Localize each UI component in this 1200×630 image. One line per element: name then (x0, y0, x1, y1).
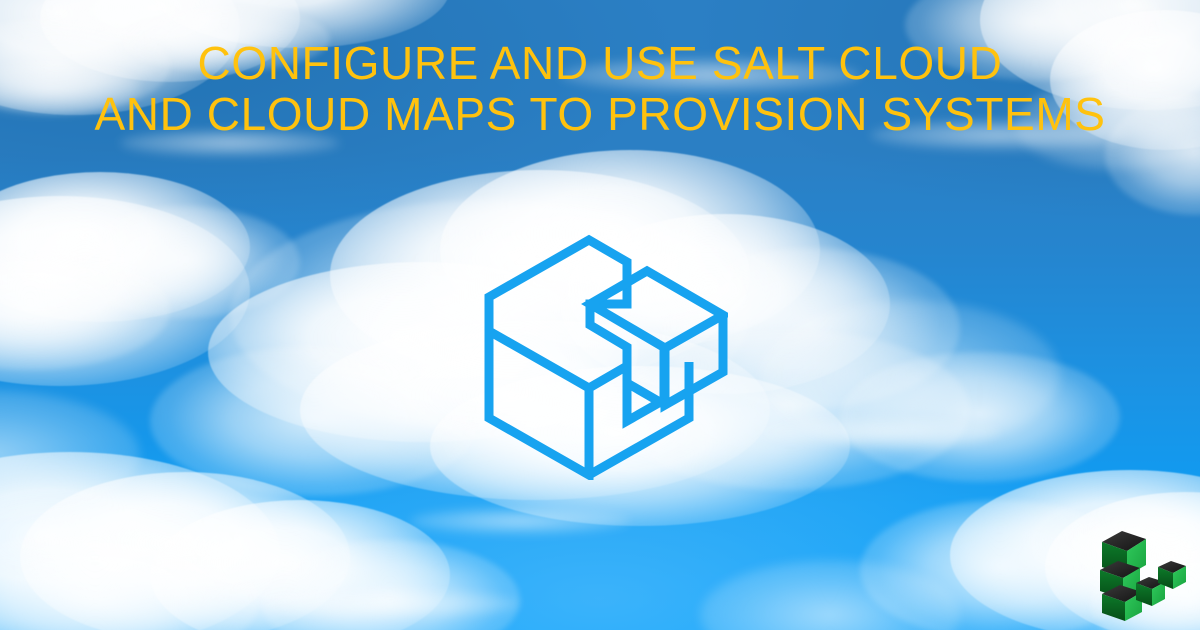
cloud-wisp (760, 418, 1000, 446)
title-line-2: AND CLOUD MAPS TO PROVISION SYSTEMS (0, 89, 1200, 140)
site-logo[interactable] (1092, 520, 1192, 624)
isometric-cube-icon (484, 232, 728, 480)
cloud-wisp (410, 508, 630, 534)
cloud-wisp (260, 590, 520, 618)
banner-image: CONFIGURE AND USE SALT CLOUD AND CLOUD M… (0, 0, 1200, 630)
banner-title: CONFIGURE AND USE SALT CLOUD AND CLOUD M… (0, 38, 1200, 140)
title-line-1: CONFIGURE AND USE SALT CLOUD (0, 38, 1200, 89)
cloud-center (840, 352, 1120, 482)
